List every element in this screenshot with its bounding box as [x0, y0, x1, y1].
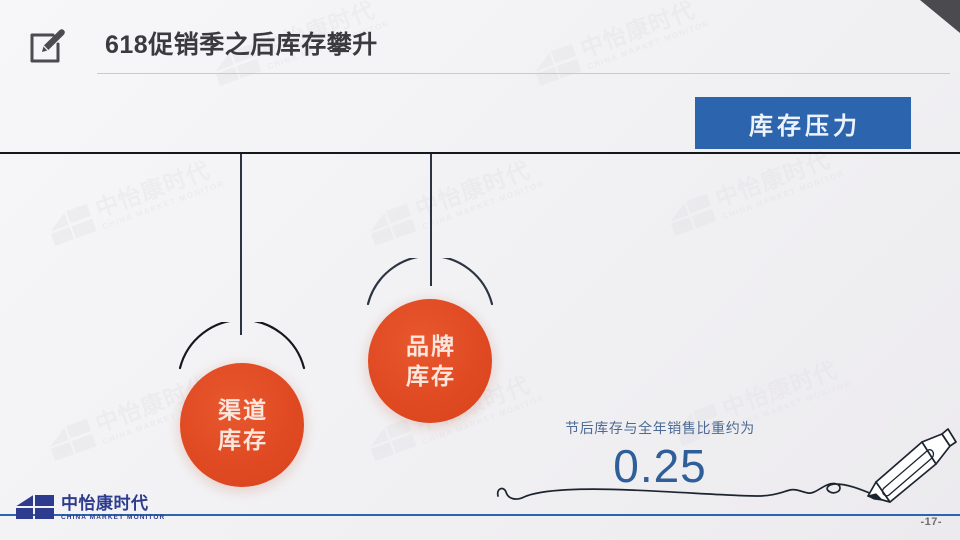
- page-number: -17-: [920, 516, 942, 528]
- stat-block: 节后库存与全年销售比重约为 0.25: [540, 418, 780, 492]
- connector-stem-channel: [240, 154, 242, 335]
- bubble-brand-line2: 库存: [404, 361, 456, 391]
- page-title: 618促销季之后库存攀升: [105, 27, 378, 63]
- logo-cn-text: 中怡康时代: [61, 495, 165, 512]
- bubble-brand-line1: 品牌: [404, 331, 456, 361]
- logo-mark-icon: CMM: [16, 495, 56, 521]
- bubble-brand-inventory: 品牌 库存: [368, 299, 492, 423]
- bubble-channel-inventory: 渠道 库存: [180, 363, 304, 487]
- logo-cmm-text: CMM: [17, 509, 32, 515]
- main-divider: [0, 152, 960, 154]
- slide-header: 618促销季之后库存攀升: [0, 0, 960, 90]
- bubble-channel-line1: 渠道: [216, 395, 268, 425]
- company-logo: CMM 中怡康时代 CHINA MARKET MONITOR: [16, 495, 165, 522]
- bubble-channel-line2: 库存: [216, 425, 268, 455]
- status-badge: 库存压力: [695, 97, 911, 149]
- slide-canvas: CMM 中怡康时代 CHINA MARKET MONITOR CMM 中怡康时代…: [0, 0, 960, 540]
- logo-en-text: CHINA MARKET MONITOR: [61, 515, 165, 522]
- stat-value: 0.25: [540, 440, 780, 492]
- edit-pencil-icon: [28, 26, 68, 66]
- status-badge-label: 库存压力: [745, 106, 861, 141]
- title-underline: [97, 73, 950, 74]
- stat-caption: 节后库存与全年销售比重约为: [540, 418, 780, 438]
